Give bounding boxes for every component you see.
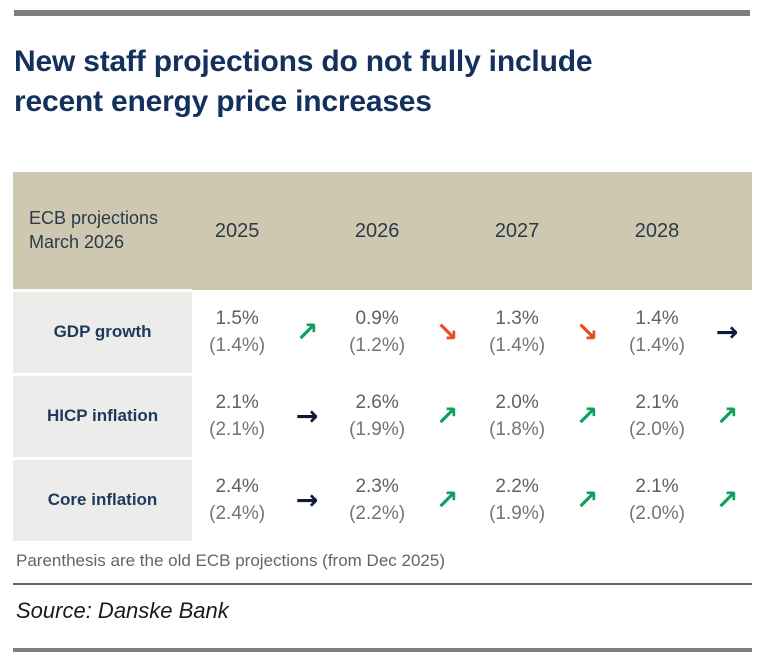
cell-current-value: 1.5%: [193, 305, 281, 332]
arrow-up-right-icon: ↗: [436, 403, 459, 430]
cell-current-value: 2.6%: [333, 389, 421, 416]
arrow-up-right-icon: ↗: [296, 319, 319, 346]
arrow-right-icon: →: [716, 319, 739, 346]
table-body: ECB projections March 2026 2025 2026 202…: [13, 172, 752, 542]
cell-previous-value: (1.8%): [473, 416, 561, 443]
row-label-core-inflation: Core inflation: [13, 458, 192, 542]
table-header-label: ECB projections March 2026: [13, 172, 192, 290]
cell-previous-value: (1.9%): [333, 416, 421, 443]
column-header-spacer-4: [702, 172, 752, 290]
arrow-core-2027: ↗: [562, 458, 612, 542]
column-header-spacer-3: [562, 172, 612, 290]
table-header-label-line-2: March 2026: [29, 230, 191, 254]
arrow-core-2028: ↗: [702, 458, 752, 542]
table-footnote: Parenthesis are the old ECB projections …: [16, 551, 445, 571]
projections-table: ECB projections March 2026 2025 2026 202…: [13, 172, 752, 544]
cell-hicp-2028: 2.1% (2.0%): [612, 374, 702, 458]
cell-core-2025: 2.4% (2.4%): [192, 458, 282, 542]
arrow-gdp-2027: ↘: [562, 290, 612, 374]
row-label-hicp-inflation: HICP inflation: [13, 374, 192, 458]
cell-previous-value: (1.2%): [333, 332, 421, 359]
cell-current-value: 0.9%: [333, 305, 421, 332]
arrow-core-2025: →: [282, 458, 332, 542]
column-header-year-2027: 2027: [472, 172, 562, 290]
cell-previous-value: (2.0%): [613, 416, 701, 443]
arrow-gdp-2028: →: [702, 290, 752, 374]
arrow-right-icon: →: [296, 403, 319, 430]
arrow-hicp-2027: ↗: [562, 374, 612, 458]
arrow-up-right-icon: ↗: [716, 487, 739, 514]
cell-current-value: 1.4%: [613, 305, 701, 332]
cell-hicp-2026: 2.6% (1.9%): [332, 374, 422, 458]
column-header-year-2025: 2025: [192, 172, 282, 290]
cell-previous-value: (1.9%): [473, 500, 561, 527]
source-label: Source: Danske Bank: [16, 598, 229, 624]
cell-current-value: 2.3%: [333, 473, 421, 500]
table-row: GDP growth 1.5% (1.4%) ↗ 0.9% (1.2%) ↘ 1…: [13, 290, 752, 374]
cell-previous-value: (1.4%): [473, 332, 561, 359]
cell-current-value: 2.1%: [613, 473, 701, 500]
arrow-up-right-icon: ↗: [576, 403, 599, 430]
page-title-line-1: New staff projections do not fully inclu…: [14, 42, 744, 82]
table-row: Core inflation 2.4% (2.4%) → 2.3% (2.2%)…: [13, 458, 752, 542]
bottom-divider: [13, 648, 752, 652]
arrow-gdp-2026: ↘: [422, 290, 472, 374]
table-header-row: ECB projections March 2026 2025 2026 202…: [13, 172, 752, 290]
arrow-down-right-icon: ↘: [436, 319, 459, 346]
arrow-up-right-icon: ↗: [576, 487, 599, 514]
cell-previous-value: (2.2%): [333, 500, 421, 527]
cell-previous-value: (2.0%): [613, 500, 701, 527]
cell-gdp-2026: 0.9% (1.2%): [332, 290, 422, 374]
page-title: New staff projections do not fully inclu…: [14, 42, 744, 122]
column-header-year-2028: 2028: [612, 172, 702, 290]
cell-hicp-2025: 2.1% (2.1%): [192, 374, 282, 458]
cell-previous-value: (2.4%): [193, 500, 281, 527]
cell-current-value: 2.0%: [473, 389, 561, 416]
column-header-year-2026: 2026: [332, 172, 422, 290]
cell-hicp-2027: 2.0% (1.8%): [472, 374, 562, 458]
row-label-gdp-growth: GDP growth: [13, 290, 192, 374]
top-divider: [14, 10, 750, 16]
column-header-spacer-2: [422, 172, 472, 290]
cell-core-2028: 2.1% (2.0%): [612, 458, 702, 542]
cell-current-value: 2.2%: [473, 473, 561, 500]
cell-gdp-2028: 1.4% (1.4%): [612, 290, 702, 374]
cell-current-value: 2.1%: [193, 389, 281, 416]
table-row: HICP inflation 2.1% (2.1%) → 2.6% (1.9%)…: [13, 374, 752, 458]
arrow-up-right-icon: ↗: [436, 487, 459, 514]
arrow-down-right-icon: ↘: [576, 319, 599, 346]
arrow-hicp-2028: ↗: [702, 374, 752, 458]
arrow-hicp-2025: →: [282, 374, 332, 458]
arrow-right-icon: →: [296, 487, 319, 514]
cell-previous-value: (1.4%): [193, 332, 281, 359]
cell-gdp-2027: 1.3% (1.4%): [472, 290, 562, 374]
page-title-line-2: recent energy price increases: [14, 82, 744, 122]
arrow-gdp-2025: ↗: [282, 290, 332, 374]
table-header-label-line-1: ECB projections: [29, 208, 158, 228]
cell-current-value: 1.3%: [473, 305, 561, 332]
arrow-hicp-2026: ↗: [422, 374, 472, 458]
column-header-spacer-1: [282, 172, 332, 290]
arrow-core-2026: ↗: [422, 458, 472, 542]
cell-previous-value: (1.4%): [613, 332, 701, 359]
cell-gdp-2025: 1.5% (1.4%): [192, 290, 282, 374]
cell-current-value: 2.4%: [193, 473, 281, 500]
cell-previous-value: (2.1%): [193, 416, 281, 443]
cell-current-value: 2.1%: [613, 389, 701, 416]
arrow-up-right-icon: ↗: [716, 403, 739, 430]
footnote-divider: [13, 583, 752, 585]
cell-core-2026: 2.3% (2.2%): [332, 458, 422, 542]
cell-core-2027: 2.2% (1.9%): [472, 458, 562, 542]
